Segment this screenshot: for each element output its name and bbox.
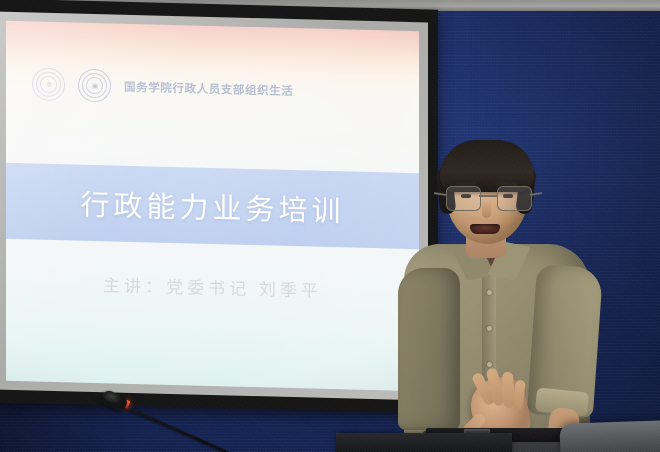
mouth-open bbox=[470, 224, 500, 234]
projection-screen: ❁ ▣ 国务学院行政人员支部组织生活 行政能力业务培训 主讲：党委书记 刘季平 bbox=[0, 4, 438, 408]
slide-surface: ❁ ▣ 国务学院行政人员支部组织生活 行政能力业务培训 主讲：党委书记 刘季平 bbox=[6, 21, 419, 391]
speaker-left-sleeve bbox=[398, 268, 460, 430]
lecture-photo-scene: ❁ ▣ 国务学院行政人员支部组织生活 行政能力业务培训 主讲：党委书记 刘季平 bbox=[0, 0, 660, 452]
speaker-figure bbox=[398, 140, 660, 452]
podium-front bbox=[336, 434, 512, 452]
shirt-button bbox=[487, 326, 492, 331]
chair-back bbox=[559, 420, 660, 452]
shirt-button bbox=[487, 362, 492, 367]
nose bbox=[482, 200, 491, 218]
shirt-button bbox=[487, 290, 492, 295]
slide-vignette bbox=[6, 21, 419, 391]
